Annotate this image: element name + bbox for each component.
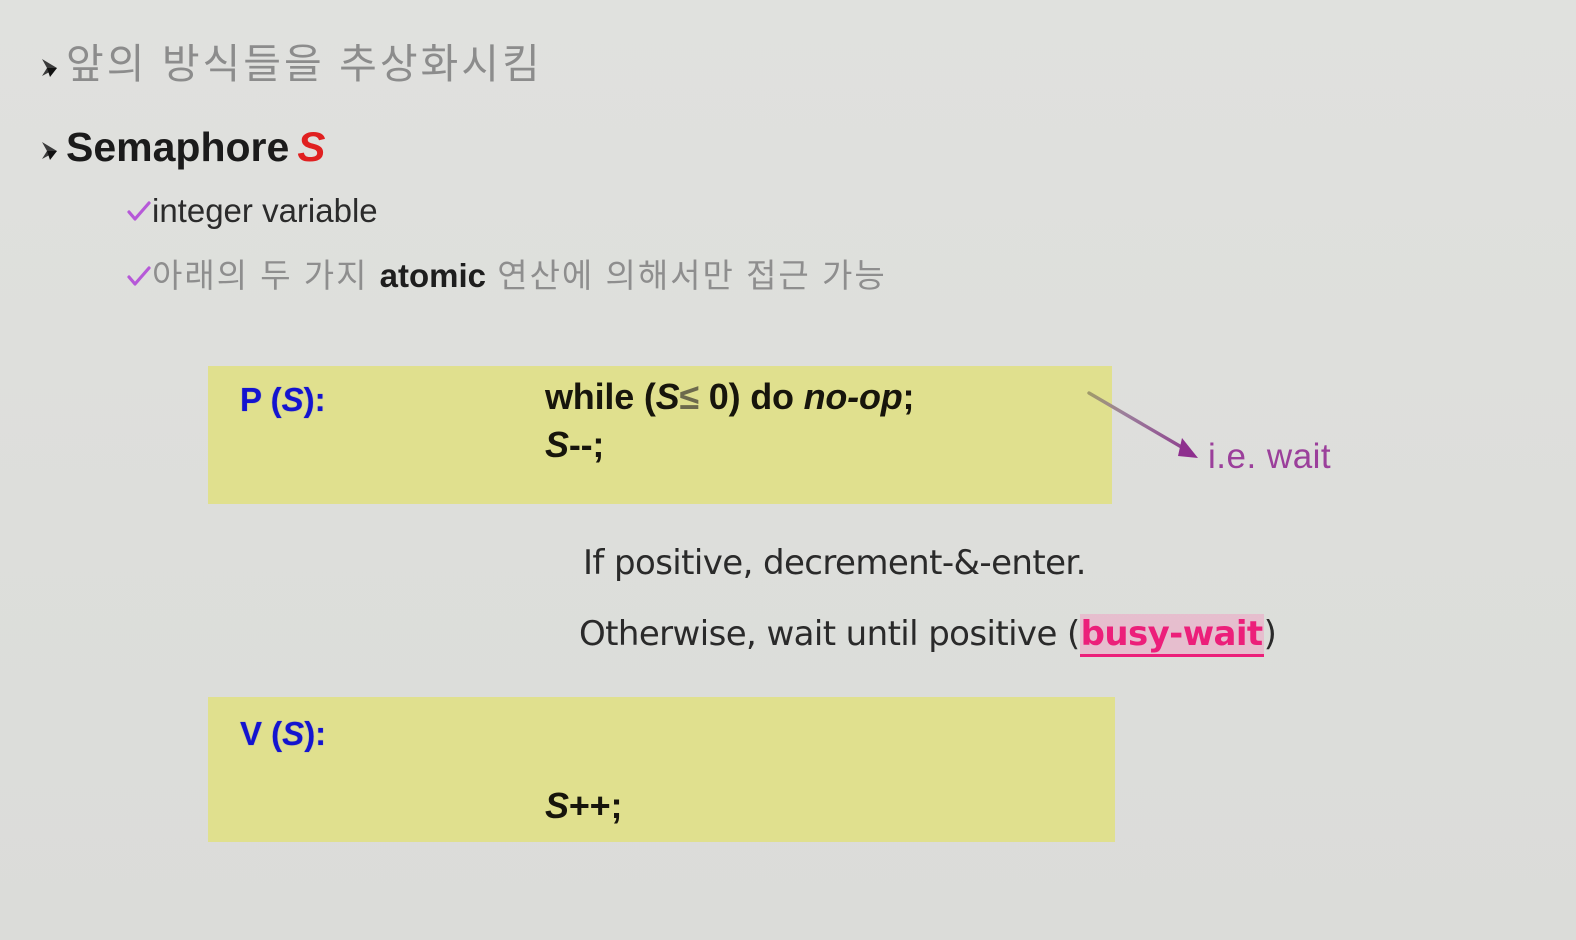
bullet-label-atomic-ops: 아래의 두 가지 atomic 연산에 의해서만 접근 가능	[152, 259, 887, 292]
while-semicolon: ;	[903, 376, 915, 417]
bullet-label-integer-variable: integer variable	[152, 194, 378, 227]
v-operation-box	[208, 697, 1115, 842]
p-label-prefix: P (	[240, 381, 282, 418]
semaphore-variable-s: S	[297, 123, 325, 171]
v-label-var: S	[282, 715, 304, 752]
p-operation-label: P (S):	[240, 381, 326, 419]
p-code-line-decrement: S--;	[545, 424, 604, 466]
v-operation-label: V (S):	[240, 715, 326, 753]
v-label-suffix: ):	[304, 715, 326, 752]
atomic-ops-text-after: 연산에 의해서만 접근 가능	[486, 257, 887, 294]
bullet-row-integer-variable: integer variable	[126, 194, 378, 227]
ie-wait-annotation-label: i.e. wait	[1208, 437, 1331, 477]
atomic-ops-text-before: 아래의 두 가지	[152, 257, 380, 294]
increment-var-s: S	[545, 785, 569, 826]
decrement-var-s: S	[545, 424, 569, 465]
p-label-var: S	[282, 381, 304, 418]
note-otherwise-suffix: )	[1264, 614, 1277, 654]
while-var-s: S	[656, 376, 680, 417]
increment-operator: ++;	[569, 785, 622, 826]
p-code-line-while: while (S≤ 0) do no-op;	[545, 376, 914, 418]
bullet-row-atomic-ops: 아래의 두 가지 atomic 연산에 의해서만 접근 가능	[126, 259, 887, 292]
v-label-prefix: V (	[240, 715, 282, 752]
while-keyword: while (	[545, 376, 656, 417]
arrow-bullet-icon	[36, 137, 66, 167]
arrow-bullet-icon	[36, 54, 66, 84]
while-condition-tail: 0) do	[699, 376, 804, 417]
v-code-line-increment: S++;	[545, 785, 622, 827]
atomic-ops-emphasis: atomic	[380, 257, 486, 294]
check-bullet-icon	[126, 200, 152, 226]
note-otherwise-prefix: Otherwise, wait until positive (	[579, 614, 1080, 654]
busy-wait-highlight: busy-wait	[1080, 614, 1264, 657]
less-or-equal-icon: ≤	[679, 376, 699, 417]
p-label-suffix: ):	[304, 381, 326, 418]
bullet-label-semaphore: Semaphore	[66, 127, 289, 168]
bullet-label-abstraction: 앞의 방식들을 추상화시킴	[66, 44, 543, 85]
note-otherwise: Otherwise, wait until positive (busy-wai…	[579, 614, 1276, 654]
note-if-positive: If positive, decrement-&-enter.	[583, 543, 1086, 583]
check-bullet-icon	[126, 265, 152, 291]
decrement-operator: --;	[569, 424, 604, 465]
bullet-row-abstraction: 앞의 방식들을 추상화시킴	[36, 44, 543, 85]
bullet-row-semaphore: Semaphore S	[36, 123, 325, 171]
no-op-keyword: no-op	[804, 376, 903, 417]
slide-canvas: 앞의 방식들을 추상화시킴 Semaphore S integer variab…	[0, 0, 1576, 940]
